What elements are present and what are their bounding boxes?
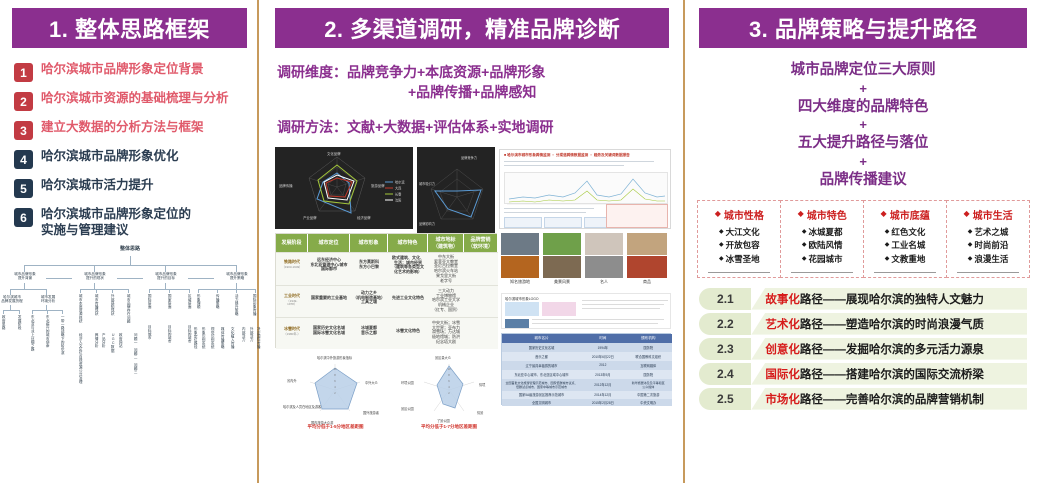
path-row[interactable]: 2.4 国际化路径——搭建哈尔滨的国际交流桥梁 — [699, 363, 1027, 385]
agenda-label: 哈尔滨城市品牌形象优化 — [41, 149, 179, 165]
card-list-item: ◆花园城市 — [783, 253, 861, 267]
bullet-icon: ◆ — [968, 255, 973, 265]
tree-node-l2: 外部感知现状 — [111, 294, 115, 316]
tree-node-l3: 一带一路战略下的哈尔滨 — [61, 315, 65, 355]
svg-text:品牌影响力: 品牌影响力 — [419, 221, 435, 226]
card-item-label: 艺术之城 — [974, 226, 1008, 240]
bullet-icon: ◆ — [885, 228, 890, 238]
tree-node-l2: 传播策略 — [216, 294, 220, 308]
tree-node-l3: 外部活力 — [250, 327, 254, 341]
tree-node-l2: 城市本底资源现状 — [79, 294, 83, 323]
tree-node-l3: 目标城市 — [148, 325, 152, 339]
svg-text:环境公园: 环境公园 — [401, 380, 414, 385]
path-number: 2.2 — [699, 313, 751, 335]
svg-text:景区公园: 景区公园 — [401, 406, 414, 411]
dimension-line-2: +品牌传播+品牌感知 — [277, 82, 667, 102]
list-item[interactable]: 2 哈尔滨城市资源的基础梳理与分析 — [14, 91, 249, 111]
tree-node-l3: 发展阶段 — [18, 315, 22, 329]
card-list-item: ◆冰城夏都 — [783, 226, 861, 240]
bullet-icon: ◆ — [968, 241, 973, 251]
svg-text:长春: 长春 — [395, 191, 402, 196]
table-cell: 三大动力 工业博物馆 哈尔滨工业大学 机械企业 （红专、国贸） — [428, 289, 464, 313]
brand-dimension-cards: ◆ 城市性格 ◆大江文化 ◆开放包容 ◆冰雪圣地 ◆ 城市特色 ◆冰城夏都 ◆欧… — [697, 200, 1029, 278]
card-list-item: ◆时尚前沿 — [949, 239, 1027, 253]
blue-table-cell: 2012年12月 — [581, 379, 624, 391]
svg-text:了景公园: 了景公园 — [437, 418, 450, 423]
card-item-label: 大江文化 — [726, 226, 760, 240]
agenda-label: 建立大数据的分析方法与框架 — [41, 120, 204, 136]
list-item[interactable]: 1 哈尔滨城市品牌形象定位背景 — [14, 62, 249, 82]
upgrade-paths-list: 2.1 故事化路径——展现哈尔滨的独特人文魅力 2.2 艺术化路径——塑造哈尔滨… — [699, 288, 1027, 410]
dimension-card[interactable]: ◆ 城市生活 ◆艺术之城 ◆时尚前沿 ◆浪漫生活 — [946, 200, 1030, 278]
card-title: 城市生活 — [973, 207, 1013, 222]
table-cell: 国家重要的工业基地 — [308, 296, 350, 301]
table-cell-era: 铁路时代 — [276, 260, 308, 265]
bullet-icon: ◆ — [719, 255, 724, 265]
agenda-label: 哈尔滨城市资源的基础梳理与分析 — [41, 91, 229, 107]
path-number: 2.3 — [699, 338, 751, 360]
table-cell: 动力之乡 （机电制造基地） 工具之城 — [350, 291, 388, 305]
tree-node-l2: 形象理顺 — [197, 294, 201, 308]
summary-line: 五大提升路径与落位 — [699, 133, 1027, 155]
table-cell: 远东经济中心 东北亚管理中心/城市 国际都市 — [308, 258, 350, 272]
list-item[interactable]: 4 哈尔滨城市品牌形象优化 — [14, 149, 249, 169]
blue-table-cell: 国务院 — [625, 370, 672, 379]
research-methods: 调研方法：文献+大数据+评估体系+实地调研 — [277, 119, 554, 135]
blue-table-cell: 音乐之都 — [502, 352, 581, 361]
panel2-title: 2. 多渠道调研，精准品牌诊断 — [275, 8, 669, 48]
tree-node-l2: 城市品牌存在问题 — [127, 294, 131, 323]
tree-node-l2: 活力提升策略 — [235, 294, 239, 316]
radar-caption-right: 平均分低于1-7分地区差距图 — [399, 424, 499, 430]
photo-caption: 知名旅游地 — [501, 279, 539, 285]
diamond-icon: ◆ — [963, 210, 969, 218]
dimension-card[interactable]: ◆ 城市底蕴 ◆红色文化 ◆工业名城 ◆文教重地 — [863, 200, 947, 278]
card-header: ◆ 城市生活 — [949, 207, 1027, 222]
tree-node-l3: 经济人文区位自然资源公共治理 — [79, 333, 83, 383]
table-cell-era-sub: （1903-1949） — [276, 266, 308, 270]
tree-node-l2: 城市传播现状 — [95, 294, 99, 316]
tree-node-l3: 政府网站 — [119, 333, 123, 347]
tree-node-l3: 东北振兴的城市使命 — [46, 315, 50, 347]
radar-chart-score-right: 108 642 景区量大众 情境 情景 了景公园 景区公园 环境公园 平均分低于… — [399, 352, 499, 432]
agenda-number: 2 — [14, 92, 33, 111]
tree-node-l2: 国际层面 — [148, 294, 152, 308]
path-text: 创意化路径——发掘哈尔滨的多元活力源泉 — [751, 338, 1027, 360]
card-title: 城市特色 — [807, 207, 847, 222]
panel3-title: 3. 品牌策略与提升路径 — [699, 8, 1027, 48]
tree-node-l3: 目标的城市 — [188, 325, 192, 343]
tree-node-l2: 国家层面 — [168, 294, 172, 308]
blue-table-cell: 国家5A级旅游景区推荐示范城市 — [502, 391, 581, 399]
table-cell-era-sub: （1980年-） — [276, 333, 308, 337]
card-title: 城市性格 — [724, 207, 764, 222]
path-row[interactable]: 2.5 市场化路径——完善哈尔滨的品牌营销机制 — [699, 388, 1027, 410]
summary-line: 城市品牌定位三大原则 — [699, 60, 1027, 82]
blue-table-cell: 全国文明城市 — [502, 399, 581, 406]
dimension-card[interactable]: ◆ 城市特色 ◆冰城夏都 ◆欧陆风情 ◆花园城市 — [780, 200, 864, 278]
agenda-number: 3 — [14, 121, 33, 140]
path-text: 艺术化路径——塑造哈尔滨的时尚浪漫气质 — [751, 313, 1027, 335]
svg-text:沈阳: 沈阳 — [395, 197, 401, 202]
blue-table-cell: 新华旅居冰及及平等和区 公众媒体 — [625, 379, 672, 391]
path-text: 市场化路径——完善哈尔滨的品牌营销机制 — [751, 388, 1027, 410]
svg-text:文化品牌: 文化品牌 — [327, 151, 341, 156]
path-keyword: 市场化 — [765, 391, 800, 407]
card-list-item: ◆艺术之城 — [949, 226, 1027, 240]
tree-node-l3: 东北亚与冰上丝绸之路 — [31, 315, 35, 351]
panel1-title: 1. 整体思路框架 — [12, 8, 247, 48]
blue-table-cell: 2010年6月22日 — [581, 352, 624, 361]
city-nameplate-table: 城市名片 时间 颁布机构 国家历史文化名城 1994年 国务院 音乐之都 201… — [501, 333, 671, 405]
svg-text:国外旅游者: 国外旅游者 — [363, 410, 380, 415]
tree-node-l3: 视觉识别系统 — [211, 327, 215, 349]
table-cell: 中央大街；冰雪 大世界；亚布力 滑雪场；万达城 极地馆城；防洪 纪念塔大剧 — [428, 321, 464, 345]
path-keyword: 创意化 — [765, 341, 800, 357]
table-header-cell: 城市地标 （建筑物） — [428, 234, 464, 252]
agenda-label: 哈尔滨城市活力提升 — [41, 178, 154, 194]
photo-collage: 知名旅游地 美景风景 名人 商品 — [501, 233, 671, 291]
card-divider — [791, 272, 853, 273]
svg-text:哈尔滨: 哈尔滨 — [395, 179, 405, 184]
tree-node-l2: 国际形象传播 — [253, 294, 257, 316]
blue-table-cell: 中央文明办 — [625, 399, 672, 406]
bullet-icon: ◆ — [885, 241, 890, 251]
card-item-label: 时尚前沿 — [974, 239, 1008, 253]
table-header-cell: 城市定位 — [308, 234, 350, 252]
blue-table-header: 颁布机构 — [625, 334, 672, 343]
path-number: 2.4 — [699, 363, 751, 385]
path-row[interactable]: 2.2 艺术化路径——塑造哈尔滨的时尚浪漫气质 — [699, 313, 1027, 335]
svg-text:中外大众: 中外大众 — [365, 380, 379, 385]
table-header-cell: 城市特色 — [388, 234, 428, 252]
card-list-item: ◆浪漫生活 — [949, 253, 1027, 267]
tree-node-l3: 媒体传播策略 — [221, 327, 225, 349]
path-rest: 路径——搭建哈尔滨的国际交流桥梁 — [800, 366, 984, 382]
card-list-item: ◆欧陆风情 — [783, 239, 861, 253]
svg-text:品牌传播: 品牌传播 — [279, 183, 293, 188]
list-item[interactable]: 5 哈尔滨城市活力提升 — [14, 178, 249, 198]
card-list-item: ◆大江文化 — [700, 226, 778, 240]
list-item[interactable]: 3 建立大数据的分析方法与框架 — [14, 120, 249, 140]
card-divider — [874, 272, 936, 273]
summary-plus: + — [699, 118, 1027, 133]
summary-line: 四大维度的品牌特色 — [699, 97, 1027, 119]
bullet-icon: ◆ — [968, 228, 973, 238]
tree-node-l3: 问题一 问题二 问题三 — [134, 333, 138, 373]
card-item-label: 冰城夏都 — [809, 226, 843, 240]
panel-brand-strategy: 3. 品牌策略与提升路径 城市品牌定位三大原则 + 四大维度的品牌特色 + 五大… — [685, 0, 1039, 483]
svg-text:情境: 情境 — [479, 382, 486, 387]
agenda-number: 1 — [14, 63, 33, 82]
card-item-label: 工业名城 — [891, 239, 925, 253]
agenda-label: 哈尔滨城市品牌形象定位的 实施与管理建议 — [41, 207, 191, 238]
path-rest: 路径——发掘哈尔滨的多元活力源泉 — [800, 341, 984, 357]
card-divider — [957, 272, 1019, 273]
blue-table-cell: 互联网媒体 — [625, 361, 672, 370]
svg-text:景区量大众: 景区量大众 — [435, 355, 452, 360]
tree-node-l3: 形象识别系统 — [202, 327, 206, 349]
card-divider — [708, 272, 770, 273]
bullet-icon: ◆ — [719, 241, 724, 251]
blue-table-cell: 联合国教科文组织 — [625, 352, 672, 361]
path-number: 2.1 — [699, 288, 751, 310]
bullet-icon: ◆ — [885, 255, 890, 265]
diamond-icon: ◆ — [798, 210, 804, 218]
blue-table-cell: 中国第二次旅游 — [625, 391, 672, 399]
tree-root: 整体思路 — [102, 247, 158, 253]
table-cell: 国家历史文化名城 国际冰雪文化名城 — [308, 326, 350, 336]
table-cell-era: 工业时代 — [276, 294, 308, 299]
svg-text:大连: 大连 — [395, 185, 402, 190]
svg-text:城市吸引力: 城市吸引力 — [419, 181, 435, 186]
diamond-icon: ◆ — [715, 210, 721, 218]
card-list-item: ◆工业名城 — [866, 239, 944, 253]
table-cell-era-sub: （1949- 1978） — [276, 300, 308, 307]
dimension-line-1: 调研维度：品牌竞争力+本底资源+品牌形象 — [277, 64, 545, 80]
path-keyword: 故事化 — [765, 291, 800, 307]
svg-text:省内外: 省内外 — [287, 378, 297, 383]
radar-chart-multi-city: 文化品牌 旅游品牌 经济品牌 产业品牌 品牌传播 哈尔滨 大连 长春 — [275, 147, 413, 229]
panel-multichannel-research: 2. 多渠道调研，精准品牌诊断 调研维度：品牌竞争力+本底资源+品牌形象 +品牌… — [259, 0, 683, 483]
blue-table-cell: 2015年2月28日 — [581, 399, 624, 406]
research-dimensions: 调研维度：品牌竞争力+本底资源+品牌形象 +品牌传播+品牌感知 调研方法：文献+… — [277, 62, 667, 137]
photo-caption: 名人 — [585, 279, 623, 285]
agenda-list: 1 哈尔滨城市品牌形象定位背景 2 哈尔滨城市资源的基础梳理与分析 3 建立大数… — [14, 62, 249, 238]
card-header: ◆ 城市性格 — [700, 207, 778, 222]
agenda-label: 哈尔滨城市品牌形象定位背景 — [41, 62, 204, 78]
card-item-label: 浪漫生活 — [974, 253, 1008, 267]
blue-table-header: 城市名片 — [502, 334, 581, 343]
tree-node-l1: 城市品牌形象 提升背景 — [4, 272, 46, 280]
summary-plus: + — [699, 155, 1027, 170]
table-header-cell: 品牌营销 （软环境） — [464, 234, 498, 252]
path-row[interactable]: 2.3 创意化路径——发掘哈尔滨的多元活力源泉 — [699, 338, 1027, 360]
radar-caption-left: 平均分低于1-5分地区差距图 — [283, 424, 388, 430]
blue-table-header: 时间 — [581, 334, 624, 343]
tree-node-l1: 城市品牌形象 提升的目标 — [145, 272, 187, 280]
bullet-icon: ◆ — [802, 241, 807, 251]
research-figures: 文化品牌 旅游品牌 经济品牌 产业品牌 品牌传播 哈尔滨 大连 长春 — [275, 147, 669, 437]
card-title: 城市底蕴 — [890, 207, 930, 222]
table-cell: 中东大街 索菲亚大教堂 圣尼古拉教堂 哈尔滨火车站 果戈里大街 老字号 — [428, 255, 464, 284]
tree-node-l1: 城市品牌形象 提升策略 — [216, 272, 258, 280]
bullet-icon: ◆ — [719, 228, 724, 238]
overall-thinking-tree: 整体思路 城市品牌形象 提升背景 城市品牌形象 提升的现状 城市品牌形象 提升的… — [2, 247, 255, 432]
svg-text:哈尔滨中外旅游形象指标: 哈尔滨中外旅游形象指标 — [317, 355, 353, 360]
svg-text:情景: 情景 — [477, 410, 483, 415]
radar-chart-score-left: 108 642 哈尔滨中外旅游形象指标 中外大众 国外旅游者 国内旅游大众游 哈… — [283, 352, 388, 432]
blue-table-cell: 全国首批文化旅游管理示范城市、国家低碳城市试点、 低碳试点城市、国家中等城市示范… — [502, 379, 581, 391]
list-item[interactable]: 6 哈尔滨城市品牌形象定位的 实施与管理建议 — [14, 207, 249, 238]
bullet-icon: ◆ — [802, 255, 807, 265]
photo-caption: 美景风景 — [543, 279, 581, 285]
summary-plus: + — [699, 82, 1027, 97]
tree-node-l3: 舆情分析 — [95, 333, 99, 347]
tree-node-l3: 产品分析 — [102, 333, 106, 347]
agenda-number: 5 — [14, 179, 33, 198]
blue-table-cell: 2014年12月 — [581, 391, 624, 399]
svg-text:旅游品牌: 旅游品牌 — [371, 183, 385, 188]
card-list-item: ◆冰雪圣地 — [700, 253, 778, 267]
svg-text:经济品牌: 经济品牌 — [357, 215, 371, 220]
tree-node-l2: 哈尔滨城市 品牌发展历程 — [0, 295, 26, 303]
svg-text:产业品牌: 产业品牌 — [303, 215, 317, 220]
card-item-label: 欧陆风情 — [809, 239, 843, 253]
card-item-label: 开放包容 — [726, 239, 760, 253]
blue-table-cell: 国务院 — [625, 343, 672, 352]
path-rest: 路径——塑造哈尔滨的时尚浪漫气质 — [800, 316, 984, 332]
table-header-cell: 发展阶段 — [276, 234, 308, 252]
agenda-number: 4 — [14, 150, 33, 169]
photo-caption: 商品 — [627, 279, 667, 285]
blue-table-cell: 1994年 — [581, 343, 624, 352]
svg-text:哈尔滨及人员在地区及游客: 哈尔滨及人员在地区及游客 — [283, 404, 322, 409]
card-list-item: ◆红色文化 — [866, 226, 944, 240]
card-item-label: 红色文化 — [891, 226, 925, 240]
path-keyword: 艺术化 — [765, 316, 800, 332]
summary-line: 品牌传播建议 — [699, 170, 1027, 192]
table-cell: 东方莫斯科 东方小巴黎 — [350, 260, 388, 270]
diamond-icon: ◆ — [881, 210, 887, 218]
tree-node-l2: 城市发展 环境分析 — [34, 295, 62, 303]
svg-text:品牌竞争力: 品牌竞争力 — [461, 155, 477, 160]
table-cell: 欧式建筑、文化、 生活；城市经贸 （建筑等各类型文 化艺术的影响） — [388, 256, 428, 275]
table-header-cell: 城市形象 — [350, 234, 388, 252]
tree-node-l3: 内部活力 — [242, 327, 246, 341]
blue-table-cell: 东北亚中心城市、东北亚区域中心城市 — [502, 370, 581, 379]
path-text: 国际化路径——搭建哈尔滨的国际交流桥梁 — [751, 363, 1027, 385]
city-era-table: 发展阶段 城市定位 城市形象 城市特色 城市地标 （建筑物） 品牌营销 （软环境… — [275, 233, 497, 348]
tree-node-l2: 区域层面 — [188, 294, 192, 308]
strategy-summary: 城市品牌定位三大原则 + 四大维度的品牌特色 + 五大提升路径与落位 + 品牌传… — [699, 60, 1027, 192]
slide-deck: 1. 整体思路框架 1 哈尔滨城市品牌形象定位背景 2 哈尔滨城市资源的基础梳理… — [0, 0, 1039, 483]
card-item-label: 冰雪圣地 — [726, 253, 760, 267]
blue-table-cell: 2012 — [581, 361, 624, 370]
tree-node-l3: 政府思路 — [2, 315, 6, 329]
bullet-icon: ◆ — [802, 228, 807, 238]
tree-node-l3: 形象定位路径 — [194, 327, 198, 349]
tree-node-l1: 城市品牌形象 提升的现状 — [74, 272, 116, 280]
card-item-label: 花园城市 — [809, 253, 843, 267]
path-number: 2.5 — [699, 388, 751, 410]
dimension-card[interactable]: ◆ 城市性格 ◆大江文化 ◆开放包容 ◆冰雪圣地 — [697, 200, 781, 278]
agenda-number: 6 — [14, 208, 33, 227]
card-list-item: ◆文教重地 — [866, 253, 944, 267]
table-cell: 冰城夏都 音乐之都 — [350, 326, 388, 336]
tree-node-l3: 文化植入传播 — [231, 327, 235, 349]
table-cell-era: 冰雪时代 — [276, 327, 308, 332]
table-cell: 冰雪文化特色 — [388, 329, 428, 334]
card-list-item: ◆开放包容 — [700, 239, 778, 253]
path-row[interactable]: 2.1 故事化路径——展现哈尔滨的独特人文魅力 — [699, 288, 1027, 310]
panel-overall-framework: 1. 整体思路框架 1 哈尔滨城市品牌形象定位背景 2 哈尔滨城市资源的基础梳理… — [0, 0, 257, 483]
path-rest: 路径——展现哈尔滨的独特人文魅力 — [800, 291, 984, 307]
card-item-label: 文教重地 — [891, 253, 925, 267]
table-cell: 先进工业文化特色 — [388, 296, 428, 301]
tree-node-l3: UGC数据 — [111, 333, 115, 352]
web-dashboard-screenshot: ■ 哈尔滨市城市形象舆情监测 ・ 分渠道舆情数据监测 ・ 趋势及关键词数据报告 — [499, 149, 671, 229]
path-keyword: 国际化 — [765, 366, 800, 382]
blue-table-cell: 国家历史文化名城 — [502, 343, 581, 352]
tree-node-l3: 目标的城市 — [168, 325, 172, 343]
blue-table-cell: 辽宁最具幸福感的城市 — [502, 361, 581, 370]
brand-identity-panel: 哈尔滨城市形象LOGO — [501, 293, 671, 329]
path-rest: 路径——完善哈尔滨的品牌营销机制 — [800, 391, 984, 407]
card-header: ◆ 城市特色 — [783, 207, 861, 222]
card-header: ◆ 城市底蕴 — [866, 207, 944, 222]
blue-table-cell: 2013年9月 — [581, 370, 624, 379]
path-text: 故事化路径——展现哈尔滨的独特人文魅力 — [751, 288, 1027, 310]
